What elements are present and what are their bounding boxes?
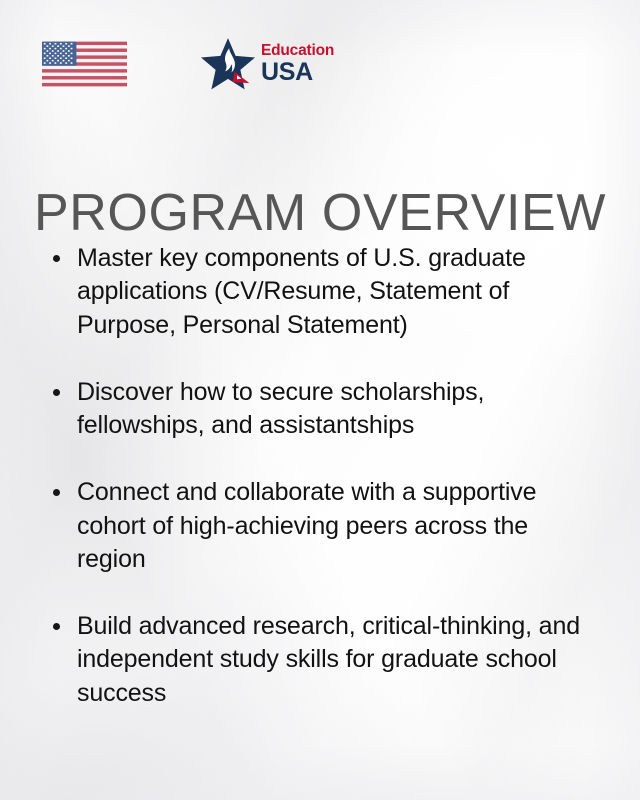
page-title: PROGRAM OVERVIEW bbox=[0, 183, 640, 243]
list-item: Connect and collaborate with a supportiv… bbox=[53, 476, 600, 576]
list-item-text: Master key components of U.S. graduate a… bbox=[77, 242, 600, 342]
slide-content: Education USA PROGRAM OVERVIEW Master ke… bbox=[0, 0, 640, 800]
bullet-dot-icon bbox=[53, 489, 60, 496]
educationusa-logo: Education USA bbox=[199, 37, 334, 91]
logo-row: Education USA bbox=[42, 36, 334, 92]
list-item-text: Discover how to secure scholarships, fel… bbox=[77, 376, 600, 443]
bullet-dot-icon bbox=[53, 255, 60, 262]
educationusa-wordmark: Education USA bbox=[261, 43, 334, 86]
list-item-text: Connect and collaborate with a supportiv… bbox=[77, 476, 600, 576]
program-overview-slide: Education USA PROGRAM OVERVIEW Master ke… bbox=[0, 0, 640, 800]
educationusa-word-education: Education bbox=[261, 43, 334, 59]
program-overview-bullet-list: Master key components of U.S. graduate a… bbox=[53, 242, 600, 710]
list-item-text: Build advanced research, critical-thinki… bbox=[77, 610, 600, 710]
list-item: Build advanced research, critical-thinki… bbox=[53, 610, 600, 710]
list-item: Discover how to secure scholarships, fel… bbox=[53, 376, 600, 443]
list-item: Master key components of U.S. graduate a… bbox=[53, 242, 600, 342]
bullet-dot-icon bbox=[53, 389, 60, 396]
us-flag-icon bbox=[42, 41, 127, 87]
bullet-dot-icon bbox=[53, 623, 60, 630]
educationusa-word-usa: USA bbox=[261, 60, 334, 85]
educationusa-star-icon bbox=[199, 37, 257, 91]
